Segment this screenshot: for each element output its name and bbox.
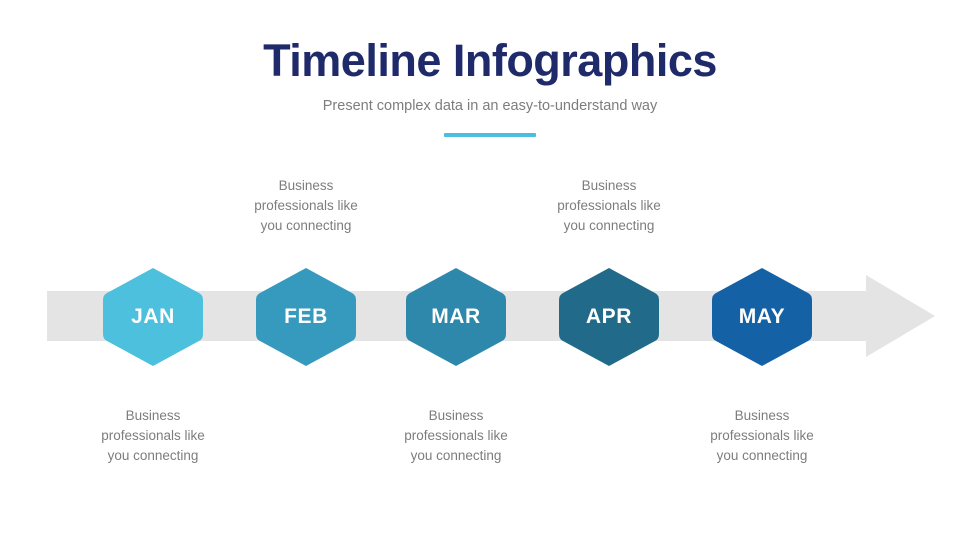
page-subtitle: Present complex data in an easy-to-under… [0,86,980,115]
milestone-month-label: MAR [405,267,507,367]
hexagon-icon[interactable]: JAN [102,267,204,367]
milestone-month-label: APR [558,267,660,367]
milestone-month-label: MAY [711,267,813,367]
caption-line: Business [662,406,862,426]
milestone-month-label: JAN [102,267,204,367]
hexagon-icon[interactable]: FEB [255,267,357,367]
hexagon-icon[interactable]: APR [558,267,660,367]
hexagon-icon[interactable]: MAY [711,267,813,367]
header: Timeline Infographics Present complex da… [0,0,980,137]
hexagon-icon[interactable]: MAR [405,267,507,367]
page-title: Timeline Infographics [0,0,980,86]
caption-line: you connecting [662,446,862,466]
timeline-section: Businessprofessionals likeyou connecting… [0,150,980,490]
milestone-month-label: FEB [255,267,357,367]
caption-line: professionals like [662,426,862,446]
milestone-may[interactable]: Businessprofessionals likeyou connecting… [662,150,862,490]
accent-divider [444,133,536,137]
milestone-caption: Businessprofessionals likeyou connecting [662,406,862,466]
